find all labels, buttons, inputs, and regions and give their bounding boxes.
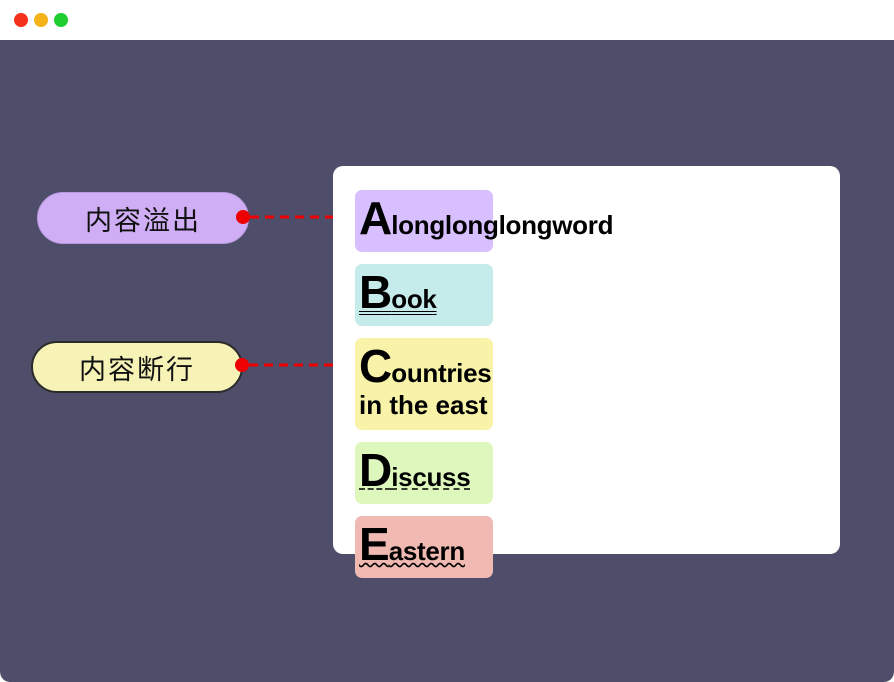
demo-row-a: Alonglonglongword [355, 190, 840, 252]
annotation-label-overflow[interactable]: 内容溢出 [37, 192, 249, 244]
demo-text-c-rest: ountries [391, 358, 491, 388]
close-traffic-light-icon[interactable] [14, 13, 28, 27]
demo-text-d: Discuss [359, 473, 470, 490]
dropcap-a: A [359, 192, 391, 244]
diagram-canvas: 内容溢出 内容断行 Alonglonglongword Book [0, 40, 894, 682]
demo-row-e: Eastern [355, 516, 840, 578]
annotation-label-overflow-text: 内容溢出 [85, 199, 201, 238]
highlight-box-d: Discuss [355, 442, 493, 504]
highlight-box-a: Alonglonglongword [355, 190, 493, 252]
dropcap-b: B [359, 266, 391, 318]
highlight-box-e: Eastern [355, 516, 493, 578]
dropcap-e: E [359, 518, 389, 570]
minimize-traffic-light-icon[interactable] [34, 13, 48, 27]
demo-text-d-rest: iscuss [391, 462, 470, 492]
demo-text-b: Book [359, 295, 437, 312]
demo-row-c: Countriesin the east [355, 338, 840, 430]
demo-row-b: Book [355, 264, 840, 326]
app-window: 内容溢出 内容断行 Alonglonglongword Book [0, 0, 894, 682]
demo-text-b-rest: ook [391, 284, 436, 314]
demo-row-d: Discuss [355, 442, 840, 504]
highlight-box-b: Book [355, 264, 493, 326]
demo-text-e: Eastern [359, 547, 465, 564]
connector-start-dot-icon [235, 358, 249, 372]
demo-text-e-rest: astern [389, 536, 465, 566]
demo-card: Alonglonglongword Book Countriesin the e… [333, 166, 840, 554]
demo-text-c-line2: in the east [359, 392, 491, 419]
maximize-traffic-light-icon[interactable] [54, 13, 68, 27]
demo-text-a-rest: longlonglongword [391, 210, 613, 240]
demo-text-a: Alonglonglongword [359, 221, 613, 238]
highlight-box-c: Countriesin the east [355, 338, 493, 430]
dropcap-d: D [359, 444, 391, 496]
demo-text-c: Countriesin the east [359, 369, 491, 420]
annotation-label-wrap-text: 内容断行 [79, 348, 195, 387]
annotation-label-wrap[interactable]: 内容断行 [31, 341, 243, 393]
dropcap-c: C [359, 340, 391, 392]
connector-start-dot-icon [236, 210, 250, 224]
titlebar [0, 0, 894, 40]
